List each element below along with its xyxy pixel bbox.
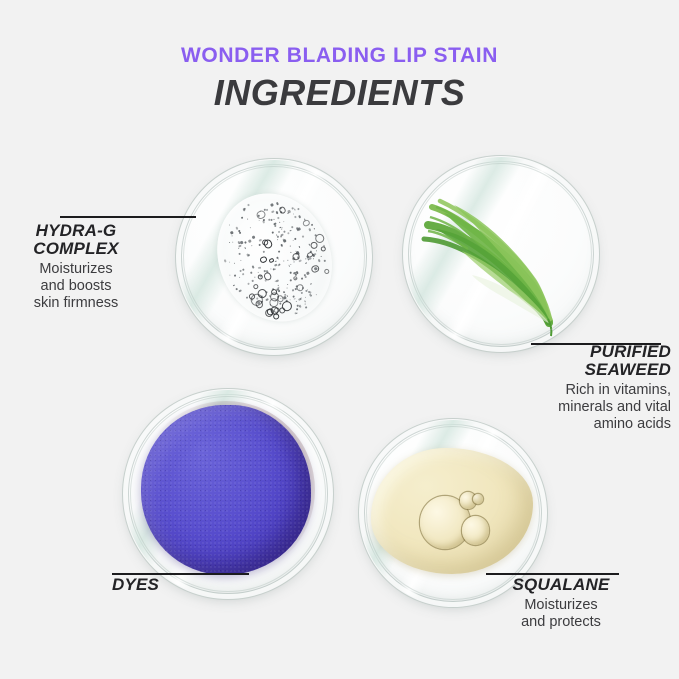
gel-speckle	[247, 218, 249, 220]
gel-speckle	[277, 289, 279, 291]
gel-speckle	[238, 276, 240, 278]
gel-bubble	[256, 273, 263, 280]
gel-speckle	[283, 260, 285, 262]
callout-hydra-g-complex: HYDRA-G COMPLEX Moisturizes and boosts s…	[0, 222, 152, 312]
gel-speckle	[292, 239, 293, 240]
gel-speckle	[270, 218, 273, 221]
gel-speckle	[300, 277, 302, 279]
ingredient-description-hydra-g-complex: Moisturizes and boosts skin firmness	[0, 261, 152, 312]
seaweed-illustration	[402, 155, 600, 353]
gel-speckle	[320, 255, 321, 256]
gel-speckle	[306, 271, 309, 274]
oil-droplet-tiny	[473, 494, 483, 504]
gel-speckle	[297, 227, 300, 230]
gel-speckle	[286, 287, 287, 288]
gel-speckle	[242, 268, 245, 271]
gel-speckle	[291, 207, 293, 209]
gel-speckle	[229, 274, 230, 275]
ingredient-name-hydra-g-complex: HYDRA-G COMPLEX	[0, 222, 152, 258]
gel-speckle	[307, 258, 309, 260]
gel-speckle	[245, 296, 248, 299]
gel-speckle	[323, 259, 325, 261]
gel-speckle	[229, 224, 230, 225]
gel-speckle	[257, 272, 258, 273]
gel-speckle	[239, 269, 242, 272]
gel-speckle	[250, 245, 252, 247]
gel-speckle	[235, 226, 238, 229]
gel-speckle	[239, 259, 241, 261]
gel-speckle	[283, 230, 285, 232]
gel-speckle	[237, 229, 240, 232]
petri-dish-purified-seaweed	[402, 155, 600, 353]
gel-speckle	[293, 238, 296, 241]
gel-speckle	[278, 221, 279, 222]
gel-speckle	[237, 252, 240, 255]
gel-speckle	[308, 228, 311, 231]
gel-speckle	[297, 214, 301, 218]
gel-speckle	[262, 250, 265, 253]
gel-speckle	[271, 210, 274, 213]
gel-speckle	[305, 289, 307, 291]
gel-speckle	[276, 235, 279, 238]
gel-speckle	[302, 235, 304, 237]
gel-speckle	[295, 271, 298, 274]
gel-speckle	[289, 271, 291, 273]
gel-speckle	[246, 254, 249, 257]
gel-speckle	[281, 229, 282, 230]
gel-speckle	[286, 232, 289, 235]
gel-bubble	[268, 258, 274, 264]
gel-speckle	[271, 231, 274, 234]
gel-speckle	[298, 259, 301, 262]
gel-speckle	[298, 245, 300, 247]
gel-speckle	[232, 241, 234, 243]
gel-speckle	[249, 226, 250, 227]
gel-speckle	[292, 213, 293, 214]
gel-speckle	[249, 271, 251, 273]
ingredient-name-squalane: SQUALANE	[478, 576, 644, 594]
ingredient-description-purified-seaweed: Rich in vitamins, minerals and vital ami…	[505, 382, 671, 433]
gel-speckle	[278, 263, 281, 266]
gel-speckle	[305, 306, 307, 308]
gel-speckle	[294, 216, 296, 218]
gel-speckle	[280, 243, 283, 246]
gel-speckle	[270, 268, 272, 270]
gel-bubble	[323, 268, 329, 274]
gel-speckle	[258, 219, 259, 220]
callout-dyes: DYES	[112, 576, 232, 594]
gel-speckle	[295, 307, 298, 310]
gel-bubble	[292, 275, 298, 281]
gel-speckle	[313, 227, 315, 229]
gel-speckle	[266, 208, 269, 211]
gel-speckle	[223, 259, 226, 262]
gel-speckle	[291, 226, 293, 228]
gel-speckle	[277, 239, 278, 240]
gel-speckle	[228, 241, 230, 243]
gel-speckle	[317, 258, 320, 261]
gel-speckle	[304, 258, 305, 259]
gel-speckle	[234, 274, 236, 276]
gel-speckle	[277, 284, 279, 286]
gel-speckle	[289, 229, 291, 231]
gel-speckle	[274, 280, 275, 281]
gel-speckle	[289, 279, 291, 281]
gel-speckle	[289, 265, 290, 266]
ingredient-description-squalane: Moisturizes and protects	[478, 597, 644, 631]
gel-speckle	[300, 291, 303, 294]
gel-speckle	[290, 251, 291, 252]
gel-speckle	[289, 245, 290, 246]
gel-speckle	[293, 298, 295, 300]
gel-speckle	[251, 265, 254, 268]
gel-speckle	[253, 276, 255, 278]
gel-speckle	[240, 216, 243, 219]
gel-speckle	[280, 235, 283, 238]
gel-speckle	[287, 259, 289, 261]
gel-blob-hydra-g	[197, 175, 351, 339]
gel-speckle	[293, 261, 294, 262]
gel-speckle	[312, 258, 313, 259]
oil-droplet-medium	[462, 516, 489, 545]
gel-speckle	[289, 263, 290, 264]
page-title: INGREDIENTS	[0, 72, 679, 114]
gel-speckle	[230, 231, 233, 234]
gel-speckle	[278, 230, 281, 233]
gel-speckle	[257, 243, 260, 246]
gel-speckle	[305, 262, 307, 264]
gel-speckle	[274, 269, 275, 270]
squalane-oil-pool	[371, 448, 533, 573]
blue-powder-dyes	[141, 405, 311, 575]
ingredients-infographic: WONDER BLADING LIP STAIN INGREDIENTS	[0, 0, 679, 679]
callout-purified-seaweed: PURIFIED SEAWEED Rich in vitamins, miner…	[505, 343, 679, 433]
gel-speckle	[292, 289, 294, 291]
gel-speckle	[233, 262, 234, 263]
gel-speckle	[305, 296, 307, 298]
gel-speckle	[279, 226, 281, 228]
gel-speckle	[315, 250, 316, 251]
gel-speckle	[284, 293, 287, 296]
gel-speckle	[277, 250, 280, 253]
gel-speckle	[315, 294, 317, 296]
gel-speckle	[283, 239, 286, 242]
product-kicker: WONDER BLADING LIP STAIN	[0, 44, 679, 68]
gel-speckle	[304, 303, 305, 304]
gel-speckle	[244, 241, 246, 243]
gel-bubble	[259, 255, 267, 263]
gel-speckle	[282, 220, 284, 222]
gel-speckle	[310, 223, 313, 226]
callout-squalane: SQUALANE Moisturizes and protects	[478, 576, 644, 631]
ingredient-name-dyes: DYES	[112, 576, 232, 594]
gel-speckle	[251, 235, 255, 239]
leader-line-hydra-g-complex	[60, 216, 196, 218]
gel-speckle	[295, 312, 297, 314]
gel-speckle	[251, 279, 253, 281]
ingredient-name-purified-seaweed: PURIFIED SEAWEED	[505, 343, 671, 379]
gel-bubble	[295, 282, 305, 292]
gel-bubble	[278, 205, 287, 214]
gel-speckle	[309, 283, 311, 285]
gel-speckle	[273, 222, 276, 225]
gel-speckle	[247, 204, 249, 206]
gel-speckle	[275, 202, 279, 206]
gel-speckle	[270, 203, 273, 206]
gel-speckle	[248, 239, 252, 243]
gel-bubble	[309, 264, 319, 274]
gel-bubble	[320, 245, 327, 252]
gel-speckle	[286, 283, 288, 285]
gel-speckle	[307, 290, 310, 293]
gel-speckle	[310, 294, 312, 296]
gel-speckle	[232, 284, 234, 286]
gel-speckle	[292, 295, 295, 298]
gel-speckle	[247, 282, 250, 285]
gel-speckle	[242, 273, 244, 275]
gel-speckle	[294, 250, 296, 252]
gel-speckle	[235, 287, 237, 289]
gel-speckle	[274, 260, 276, 262]
gel-speckle	[273, 218, 275, 220]
gel-bubble	[302, 219, 311, 228]
gel-speckle	[287, 212, 289, 214]
gel-speckle	[300, 297, 302, 299]
gel-speckle	[275, 211, 278, 214]
petri-dish-hydra-g-complex	[175, 158, 373, 356]
petri-dish-dyes	[122, 388, 334, 600]
gel-speckle	[297, 208, 300, 211]
gel-speckle	[265, 298, 268, 301]
gel-speckle	[289, 299, 290, 300]
gel-speckle	[229, 261, 230, 262]
gel-speckle	[277, 217, 279, 219]
gel-speckle	[295, 301, 296, 302]
gel-speckle	[231, 234, 233, 236]
gel-speckle	[299, 305, 300, 306]
gel-speckle	[244, 247, 246, 249]
gel-speckle	[238, 244, 242, 248]
gel-speckle	[238, 289, 241, 292]
gel-bubble	[251, 282, 259, 290]
gel-speckle	[303, 300, 305, 302]
gel-speckle	[263, 270, 265, 272]
